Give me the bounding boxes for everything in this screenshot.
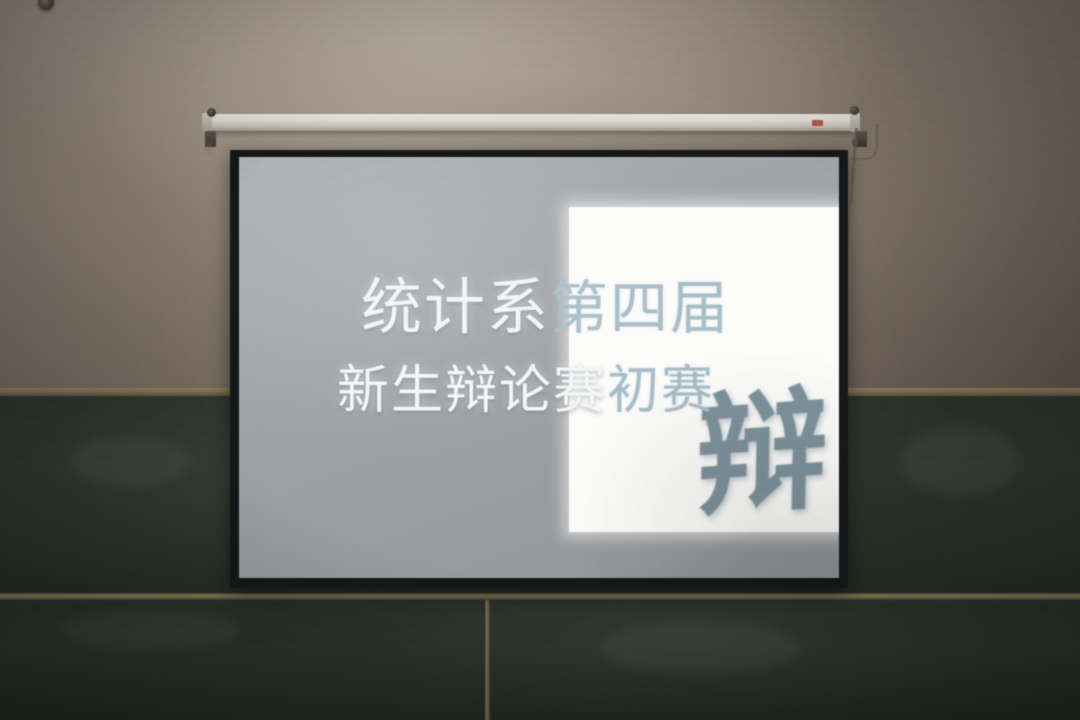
screen-roller-housing[interactable] [206, 114, 854, 131]
mount-screw-icon [207, 108, 216, 117]
slide-title-line-2-gray-segment: 新生辩论赛 [337, 362, 607, 420]
projector-screen-frame[interactable]: 辩 统计系第四届 新生辩论赛初赛 [230, 150, 848, 588]
mount-screw-icon [850, 106, 859, 115]
wall-smudge [203, 138, 215, 156]
blackboard-lower-panel [0, 600, 1080, 720]
projected-white-area [569, 207, 839, 532]
classroom-photo-scene: 辩 统计系第四届 新生辩论赛初赛 [0, 0, 1080, 720]
roller-red-marker [812, 120, 823, 126]
projector-screen-surface[interactable]: 辩 统计系第四届 新生辩论赛初赛 [239, 157, 839, 578]
blackboard-panel-seam [484, 600, 491, 720]
slide-title-line-1-gray-segment: 统计系 [361, 275, 550, 341]
